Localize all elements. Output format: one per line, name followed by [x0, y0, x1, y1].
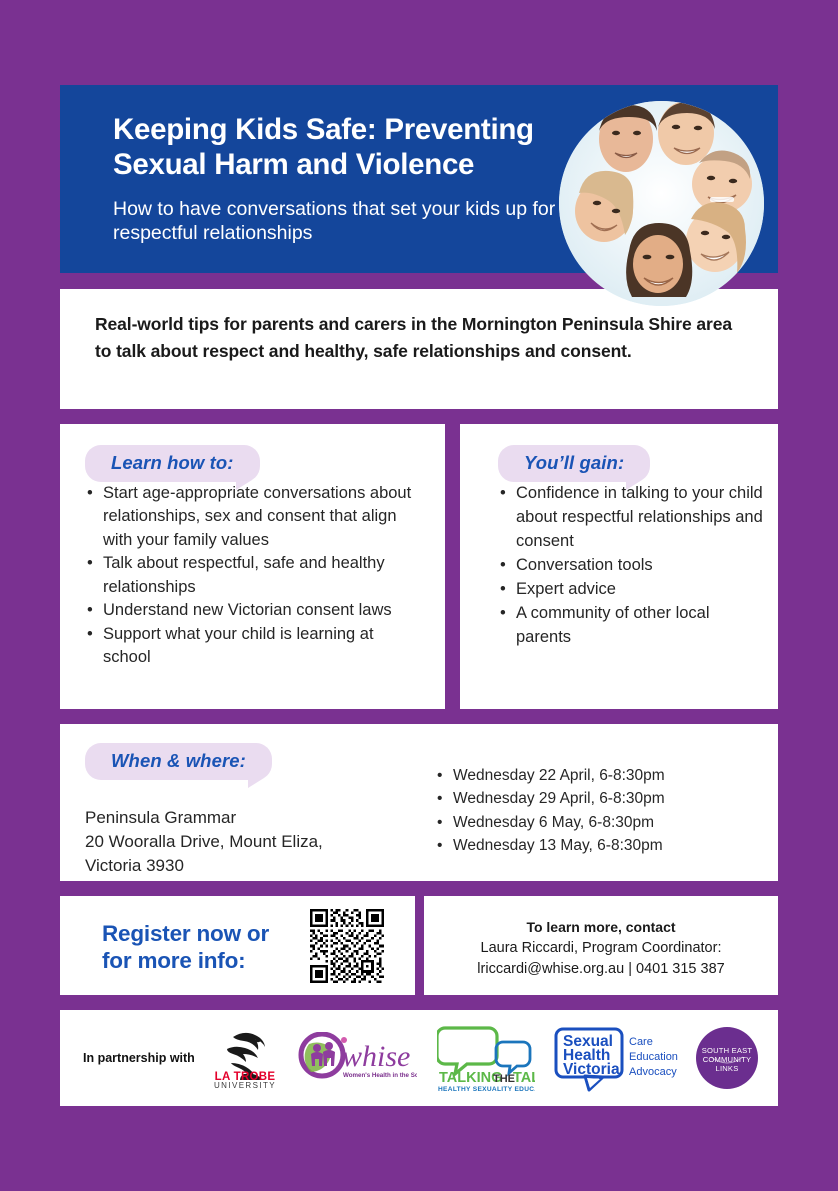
shv-tag2: Education: [629, 1051, 678, 1063]
intro-panel: Real-world tips for parents and carers i…: [60, 289, 778, 409]
learn-how-to-panel: Learn how to: Start age-appropriate conv…: [60, 424, 445, 709]
header-text-block: Keeping Kids Safe: Preventing Sexual Har…: [113, 113, 613, 246]
list-item: Confidence in talking to your child abou…: [498, 482, 763, 554]
list-item: Start age-appropriate conversations abou…: [85, 482, 425, 552]
whise-tagline: Women's Health in the South East: [343, 1072, 417, 1079]
list-item: Conversation tools: [498, 554, 763, 578]
shv-tag3: Advocacy: [629, 1066, 677, 1078]
learn-how-to-list: Start age-appropriate conversations abou…: [85, 482, 425, 669]
list-item: Wednesday 13 May, 6-8:30pm: [435, 834, 755, 857]
youll-gain-panel: You’ll gain: Confidence in talking to yo…: [460, 424, 778, 709]
shv-line3: Victoria: [563, 1061, 620, 1078]
contact-name-role: Laura Riccardi, Program Coordinator:: [424, 938, 778, 959]
youll-gain-label: You’ll gain:: [498, 445, 650, 482]
contact-panel: To learn more, contact Laura Riccardi, P…: [424, 896, 778, 995]
youll-gain-list: Confidence in talking to your child abou…: [498, 482, 763, 649]
list-item: Talk about respectful, safe and healthy …: [85, 552, 425, 599]
when-where-panel: When & where: Peninsula Grammar 20 Woora…: [60, 724, 778, 881]
list-item: Wednesday 29 April, 6-8:30pm: [435, 787, 755, 810]
venue-address: Peninsula Grammar 20 Wooralla Drive, Mou…: [85, 806, 425, 877]
venue-name: Peninsula Grammar: [85, 806, 425, 830]
shv-tag1: Care: [629, 1036, 653, 1048]
list-item: Wednesday 6 May, 6-8:30pm: [435, 811, 755, 834]
register-heading-line2: for more info:: [102, 947, 269, 974]
talking-tagline: HEALTHY SEXUALITY EDUCATION: [438, 1086, 535, 1093]
qr-code-image: [310, 909, 384, 983]
poster-canvas: Keeping Kids Safe: Preventing Sexual Har…: [0, 0, 838, 1191]
list-item: Expert advice: [498, 578, 763, 602]
page-subtitle: How to have conversations that set your …: [113, 198, 613, 246]
talk-word: TALK: [513, 1070, 535, 1086]
register-panel[interactable]: Register now or for more info:: [60, 896, 415, 995]
partners-panel: In partnership with LA TROBE: [60, 1010, 778, 1106]
partners-label: In partnership with: [83, 1051, 195, 1065]
intro-text: Real-world tips for parents and carers i…: [95, 311, 740, 364]
register-heading: Register now or for more info:: [102, 920, 269, 974]
list-item: Understand new Victorian consent laws: [85, 599, 425, 622]
whise-logo: whise Women's Health in the South East: [297, 1032, 417, 1084]
secl-line1: SOUTH EAST: [702, 1046, 753, 1055]
sexual-health-victoria-logo: Sexual Health Victoria Care Education Ad…: [553, 1021, 681, 1095]
contact-title: To learn more, contact: [424, 919, 778, 935]
la-trobe-university-word: UNIVERSITY: [214, 1081, 276, 1089]
the-word: THE: [493, 1073, 515, 1085]
secl-line3: LINKS: [715, 1064, 738, 1073]
la-trobe-university-logo: LA TROBE UNIVERSITY: [213, 1027, 277, 1089]
session-dates-list: Wednesday 22 April, 6-8:30pm Wednesday 2…: [435, 764, 755, 857]
qr-code[interactable]: [310, 909, 384, 983]
list-item: Wednesday 22 April, 6-8:30pm: [435, 764, 755, 787]
talking-the-talk-logo: TALKING THE TALK HEALTHY SEXUALITY EDUCA…: [437, 1022, 535, 1094]
when-where-label: When & where:: [85, 743, 272, 780]
whise-wordmark: whise: [342, 1040, 410, 1073]
header-photo: [559, 101, 764, 306]
venue-address-line1: 20 Wooralla Drive, Mount Eliza,: [85, 830, 425, 854]
venue-address-line2: Victoria 3930: [85, 854, 425, 878]
contact-email-phone: lriccardi@whise.org.au | 0401 315 387: [424, 959, 778, 980]
list-item: A community of other local parents: [498, 602, 763, 650]
list-item: Support what your child is learning at s…: [85, 623, 425, 670]
page-title: Keeping Kids Safe: Preventing Sexual Har…: [113, 113, 613, 182]
teens-circle-photo-illustration: [559, 101, 764, 306]
register-heading-line1: Register now or: [102, 920, 269, 947]
learn-how-to-label: Learn how to:: [85, 445, 260, 482]
south-east-community-links-logo: SOUTH EAST COMMUNITY LINKS: [695, 1026, 759, 1090]
